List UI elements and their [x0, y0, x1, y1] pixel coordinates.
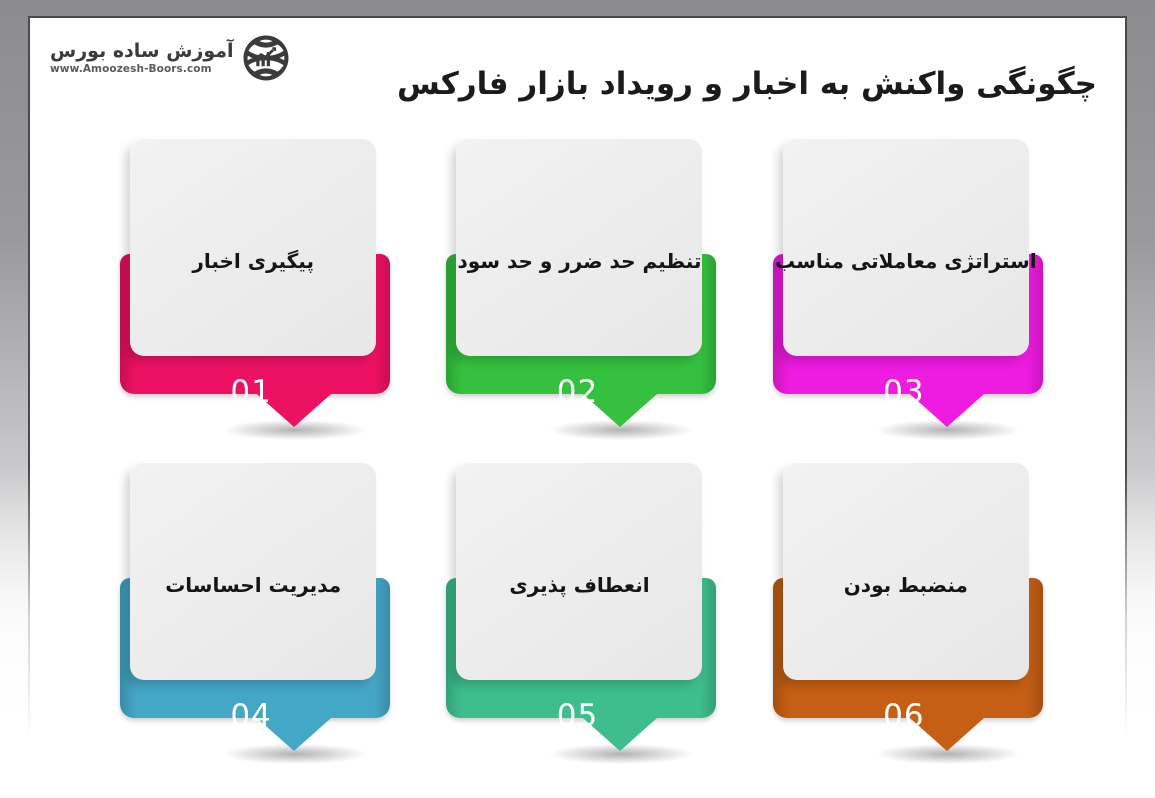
card-label: پیگیری اخبار [182, 249, 324, 273]
card-label: انعطاف پذیری [499, 573, 659, 597]
card-number: 01 [112, 374, 390, 410]
card-label: منضبط بودن [834, 573, 978, 597]
infographic-poster: آموزش ساده بورس www.Amoozesh-Boors.com چ… [0, 0, 1155, 798]
cards-grid: پیگیری اخبار 01 تنظیم حد ضرر و حد سود 02… [0, 134, 1155, 730]
card-suitable-trading-strategy[interactable]: استراتژی معاملاتی مناسب 03 [765, 134, 1043, 406]
page-title: چگونگی واکنش به اخبار و رویداد بازار فار… [28, 66, 1097, 102]
card-label: استراتژی معاملاتی مناسب [765, 249, 1047, 273]
card-news-tracking[interactable]: پیگیری اخبار 01 [112, 134, 390, 406]
card-number: 02 [438, 374, 716, 410]
card-number: 06 [765, 698, 1043, 734]
poster-header: آموزش ساده بورس www.Amoozesh-Boors.com چ… [28, 16, 1127, 120]
card-label: مدیریت احساسات [155, 573, 351, 597]
card-number: 03 [765, 374, 1043, 410]
card-number: 04 [112, 698, 390, 734]
brand-name: آموزش ساده بورس [50, 42, 234, 61]
card-panel: منضبط بودن [783, 462, 1029, 680]
card-panel: پیگیری اخبار [130, 138, 376, 356]
card-panel: انعطاف پذیری [456, 462, 702, 680]
card-panel: استراتژی معاملاتی مناسب [783, 138, 1029, 356]
card-emotion-management[interactable]: مدیریت احساسات 04 [112, 458, 390, 730]
card-stop-loss-take-profit[interactable]: تنظیم حد ضرر و حد سود 02 [438, 134, 716, 406]
card-panel: تنظیم حد ضرر و حد سود [456, 138, 702, 356]
card-number: 05 [438, 698, 716, 734]
card-flexibility[interactable]: انعطاف پذیری 05 [438, 458, 716, 730]
card-label: تنظیم حد ضرر و حد سود [448, 249, 712, 273]
card-panel: مدیریت احساسات [130, 462, 376, 680]
card-being-disciplined[interactable]: منضبط بودن 06 [765, 458, 1043, 730]
